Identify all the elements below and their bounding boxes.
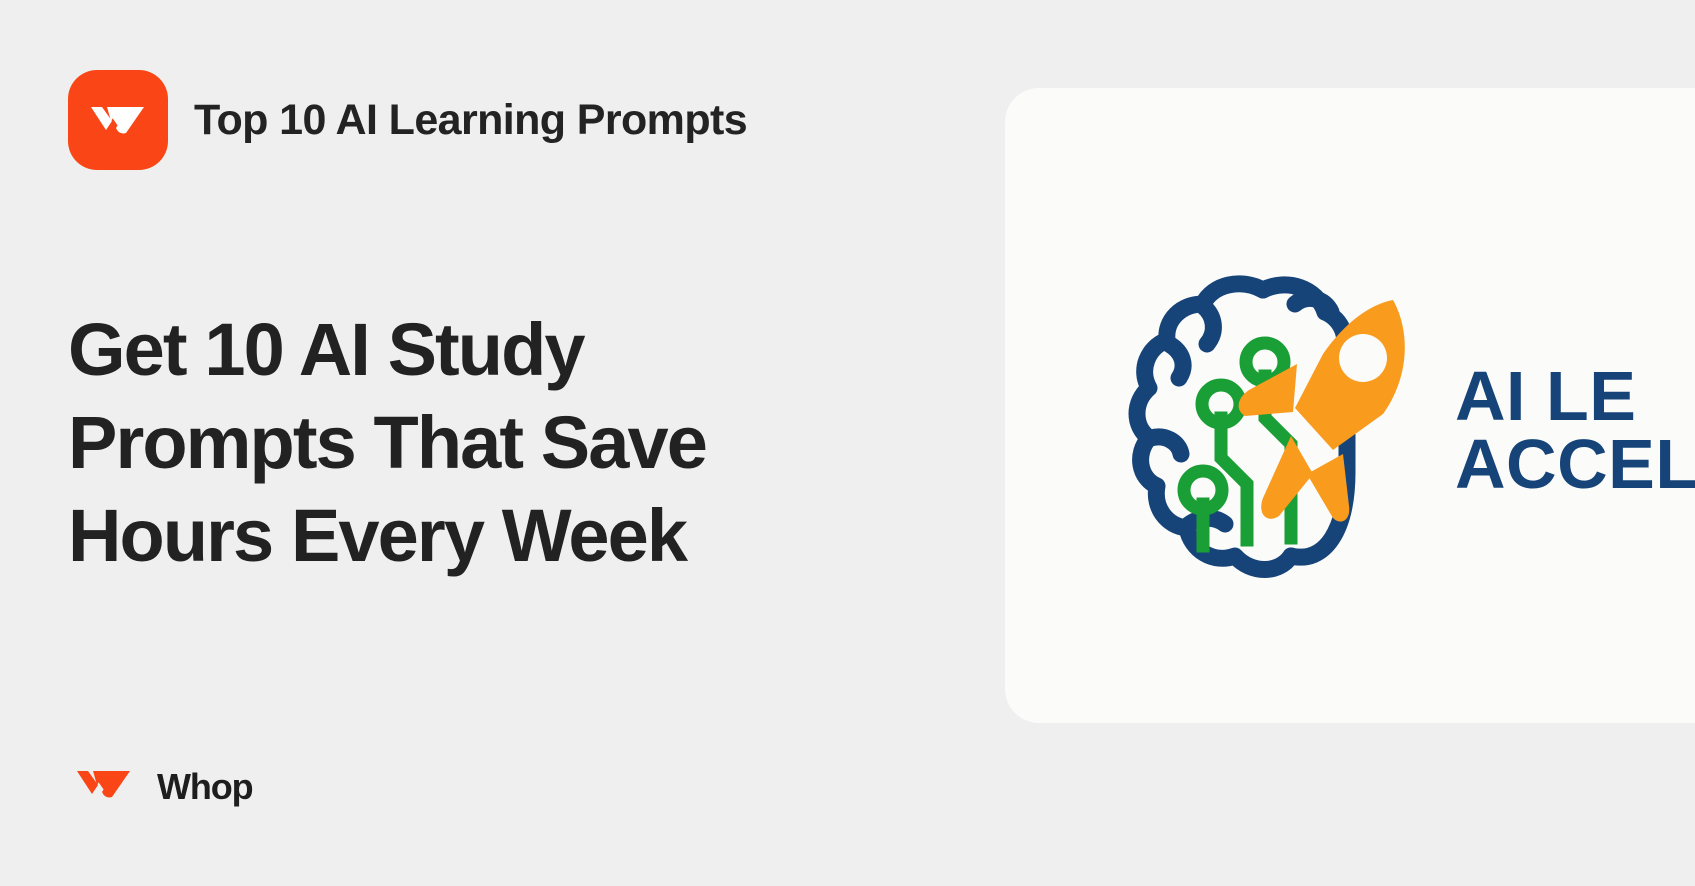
logo-wordmark: AI LE ACCEL — [1455, 363, 1695, 497]
whop-wordmark-icon — [66, 764, 142, 809]
rocket-icon — [1239, 300, 1405, 522]
headline: Get 10 AI Study Prompts That Save Hours … — [68, 304, 888, 583]
logo-wordmark-line-1: AI LE — [1455, 363, 1695, 430]
logo-wordmark-line-2: ACCEL — [1455, 431, 1695, 498]
brain-circuit-icon — [1095, 258, 1425, 603]
whop-logo-icon — [68, 70, 168, 170]
ai-learning-accelerator-logo: AI LE ACCEL — [1095, 258, 1695, 603]
product-image-card: AI LE ACCEL — [1005, 88, 1695, 723]
headline-line-3: Hours Every Week — [68, 490, 888, 583]
footer-brand: Whop — [66, 764, 253, 809]
headline-line-2: Prompts That Save — [68, 397, 888, 490]
header: Top 10 AI Learning Prompts — [68, 70, 747, 170]
page-title: Top 10 AI Learning Prompts — [194, 99, 747, 142]
headline-line-1: Get 10 AI Study — [68, 304, 888, 397]
whop-wordmark-text: Whop — [157, 769, 253, 805]
